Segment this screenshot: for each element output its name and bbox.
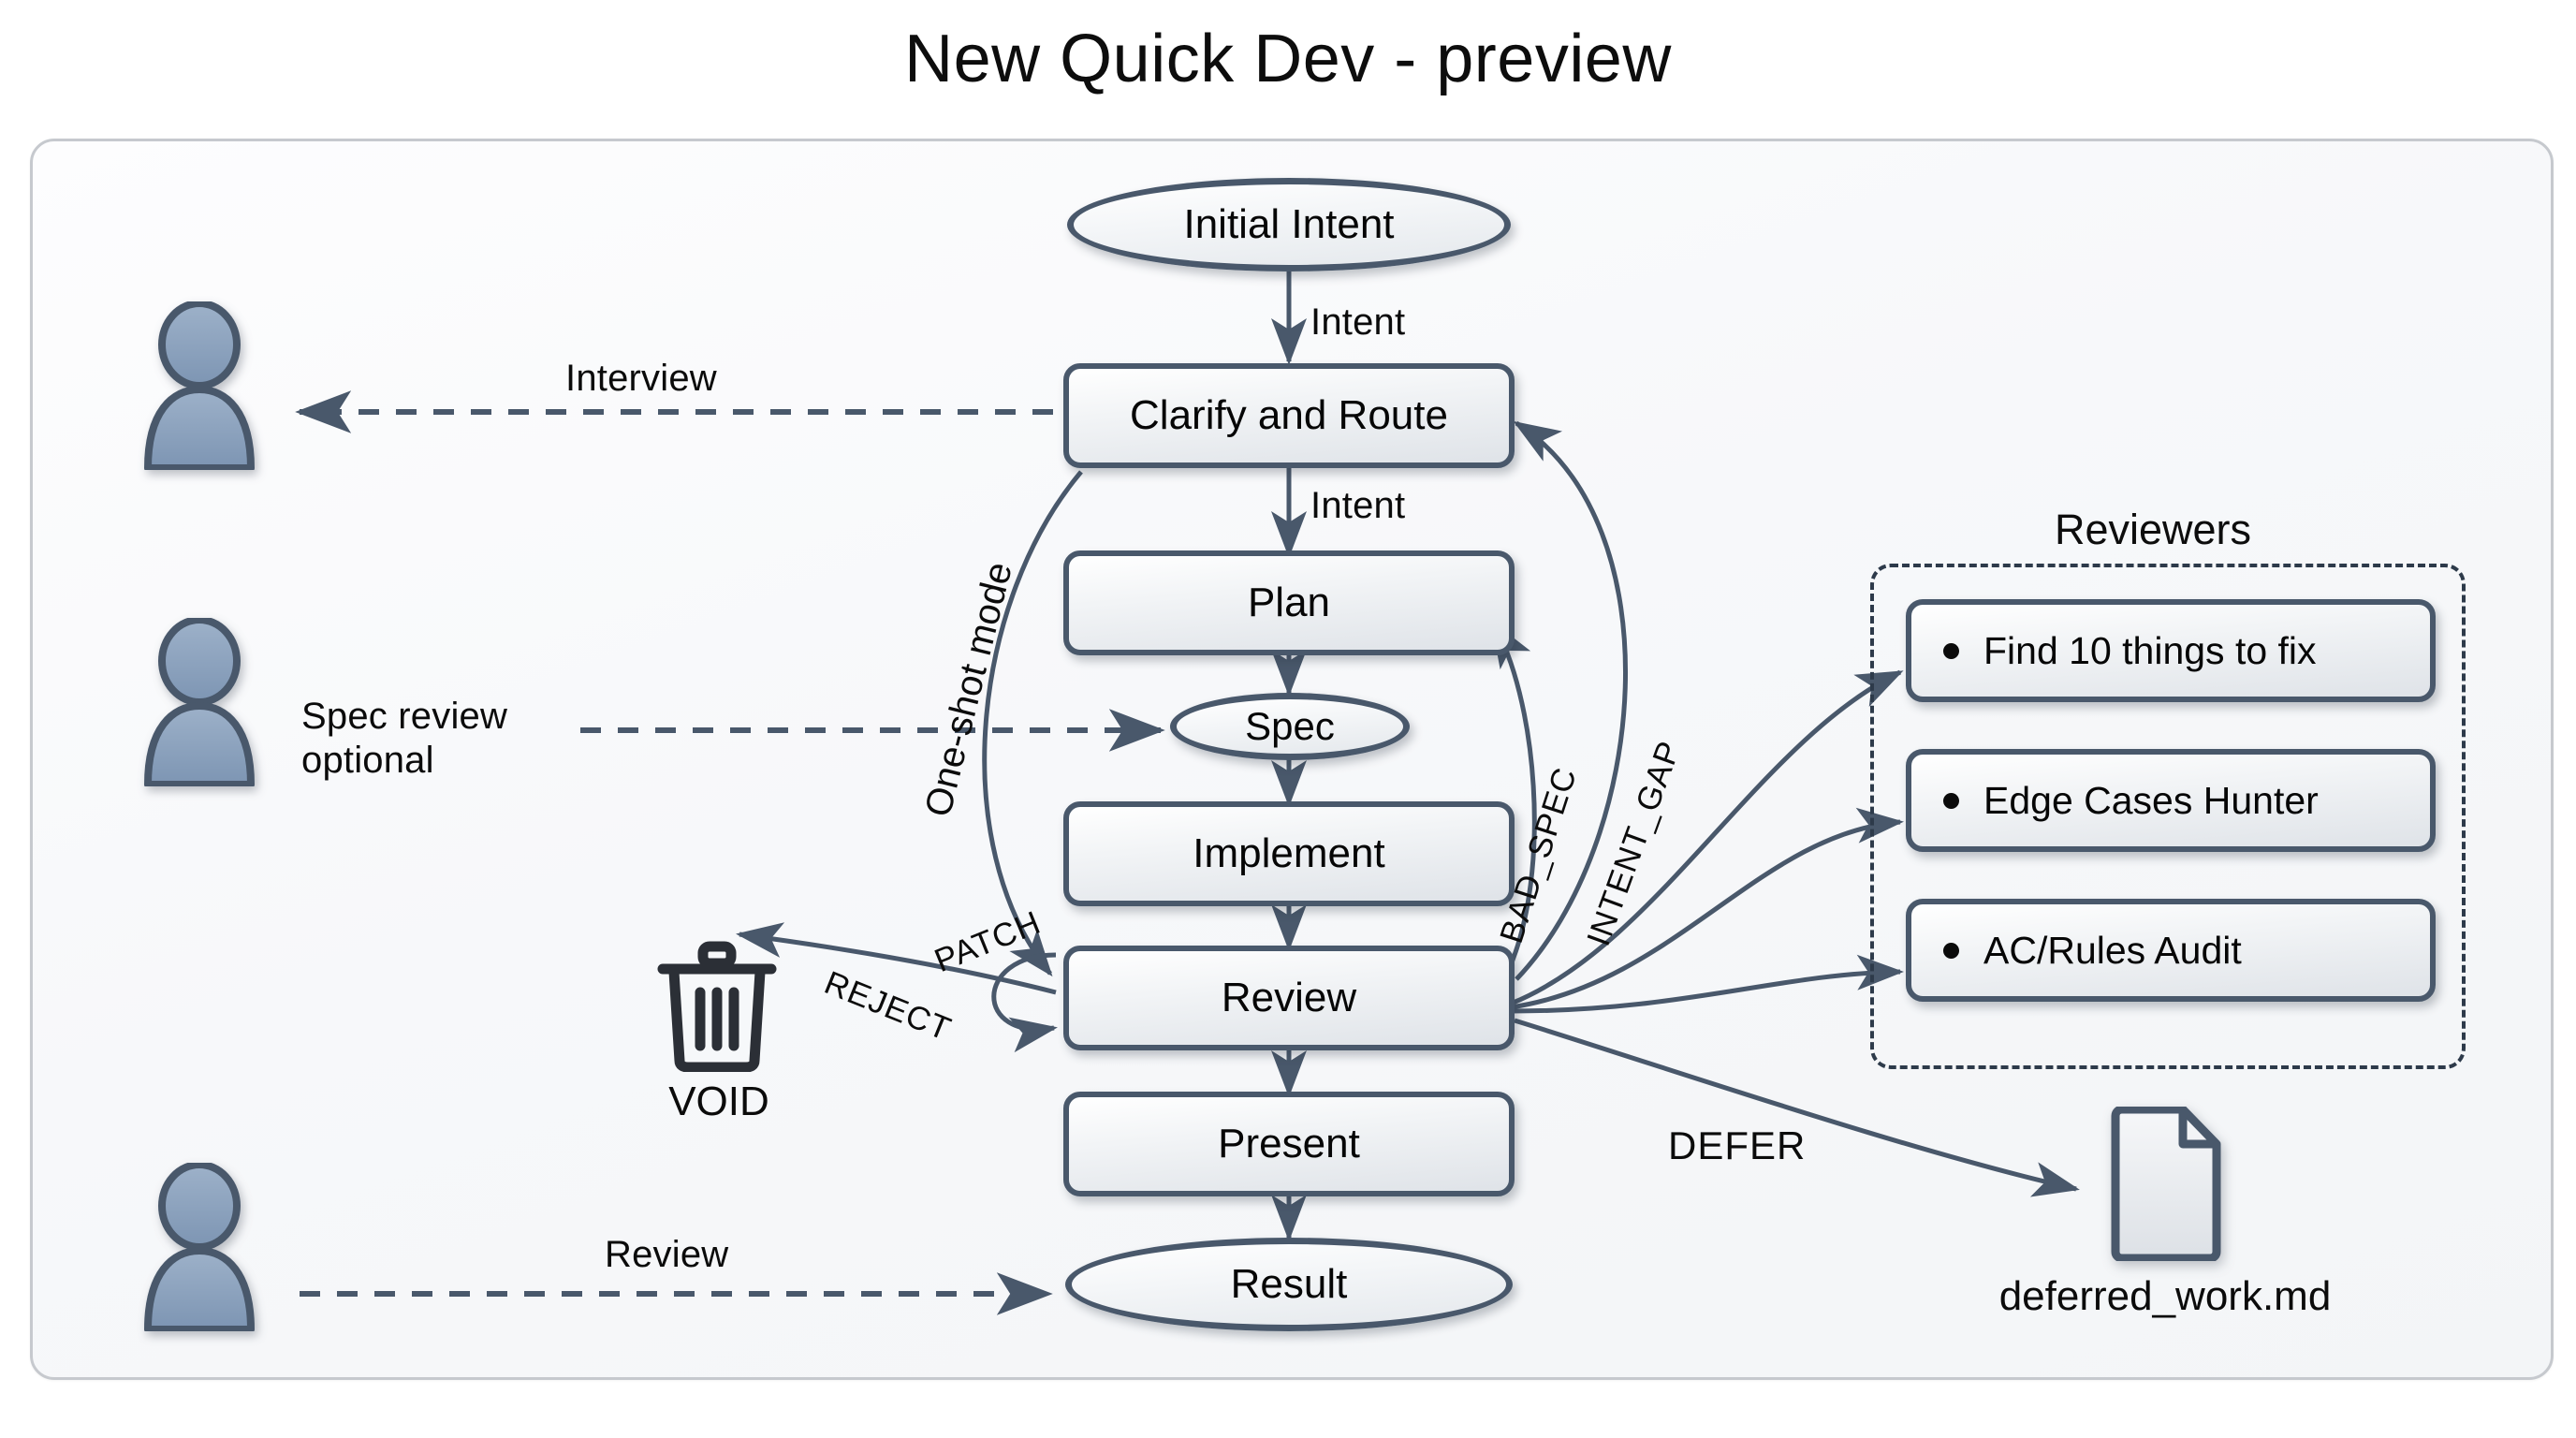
void-caption: VOID xyxy=(607,1078,831,1125)
person-icon xyxy=(139,618,260,786)
edge-label-result-review: Review xyxy=(605,1234,728,1276)
node-plan[interactable]: Plan xyxy=(1063,550,1515,655)
bullet-icon xyxy=(1943,943,1959,959)
node-label: Review xyxy=(1222,975,1356,1021)
page-title: New Quick Dev - preview xyxy=(0,21,2576,97)
node-initial-intent[interactable]: Initial Intent xyxy=(1067,178,1511,271)
node-present[interactable]: Present xyxy=(1063,1092,1515,1196)
reviewer-item-ac-rules-audit[interactable]: AC/Rules Audit xyxy=(1906,899,2436,1002)
file-document-icon xyxy=(2108,1107,2222,1261)
node-review[interactable]: Review xyxy=(1063,946,1515,1050)
node-label: Plan xyxy=(1248,580,1330,626)
node-label: Result xyxy=(1231,1261,1348,1308)
reviewer-label: AC/Rules Audit xyxy=(1983,929,2242,973)
bullet-icon xyxy=(1943,793,1959,809)
deferred-work-caption: deferred_work.md xyxy=(1926,1273,2404,1320)
edge-label-spec-review-optional: Spec reviewoptional xyxy=(301,695,582,783)
edge-label-defer: DEFER xyxy=(1668,1123,1806,1168)
reviewer-label: Find 10 things to fix xyxy=(1983,629,2317,673)
node-spec[interactable]: Spec xyxy=(1170,693,1410,760)
void-sink[interactable] xyxy=(655,941,779,1072)
actor-spec-review[interactable] xyxy=(139,618,260,786)
node-label: Initial Intent xyxy=(1183,201,1394,248)
node-label: Clarify and Route xyxy=(1130,392,1448,439)
edge-label-intent-2: Intent xyxy=(1310,485,1405,527)
actor-result-review[interactable] xyxy=(139,1163,260,1331)
actor-interview[interactable] xyxy=(139,301,260,470)
trash-icon xyxy=(655,941,779,1072)
node-label: Implement xyxy=(1193,830,1384,877)
person-icon xyxy=(139,1163,260,1331)
node-implement[interactable]: Implement xyxy=(1063,801,1515,906)
node-label: Present xyxy=(1218,1121,1360,1167)
reviewer-item-edge-cases-hunter[interactable]: Edge Cases Hunter xyxy=(1906,749,2436,852)
reviewer-label: Edge Cases Hunter xyxy=(1983,779,2319,823)
person-icon xyxy=(139,301,260,470)
node-result[interactable]: Result xyxy=(1065,1238,1513,1331)
node-clarify-and-route[interactable]: Clarify and Route xyxy=(1063,363,1515,468)
bullet-icon xyxy=(1943,643,1959,659)
deferred-work-file[interactable] xyxy=(2108,1107,2222,1261)
reviewer-item-find-10-things-to-fix[interactable]: Find 10 things to fix xyxy=(1906,599,2436,702)
node-label: Spec xyxy=(1245,704,1335,749)
reviewers-group-title: Reviewers xyxy=(1872,506,2434,554)
edge-label-interview: Interview xyxy=(565,358,717,400)
edge-label-intent-1: Intent xyxy=(1310,301,1405,344)
